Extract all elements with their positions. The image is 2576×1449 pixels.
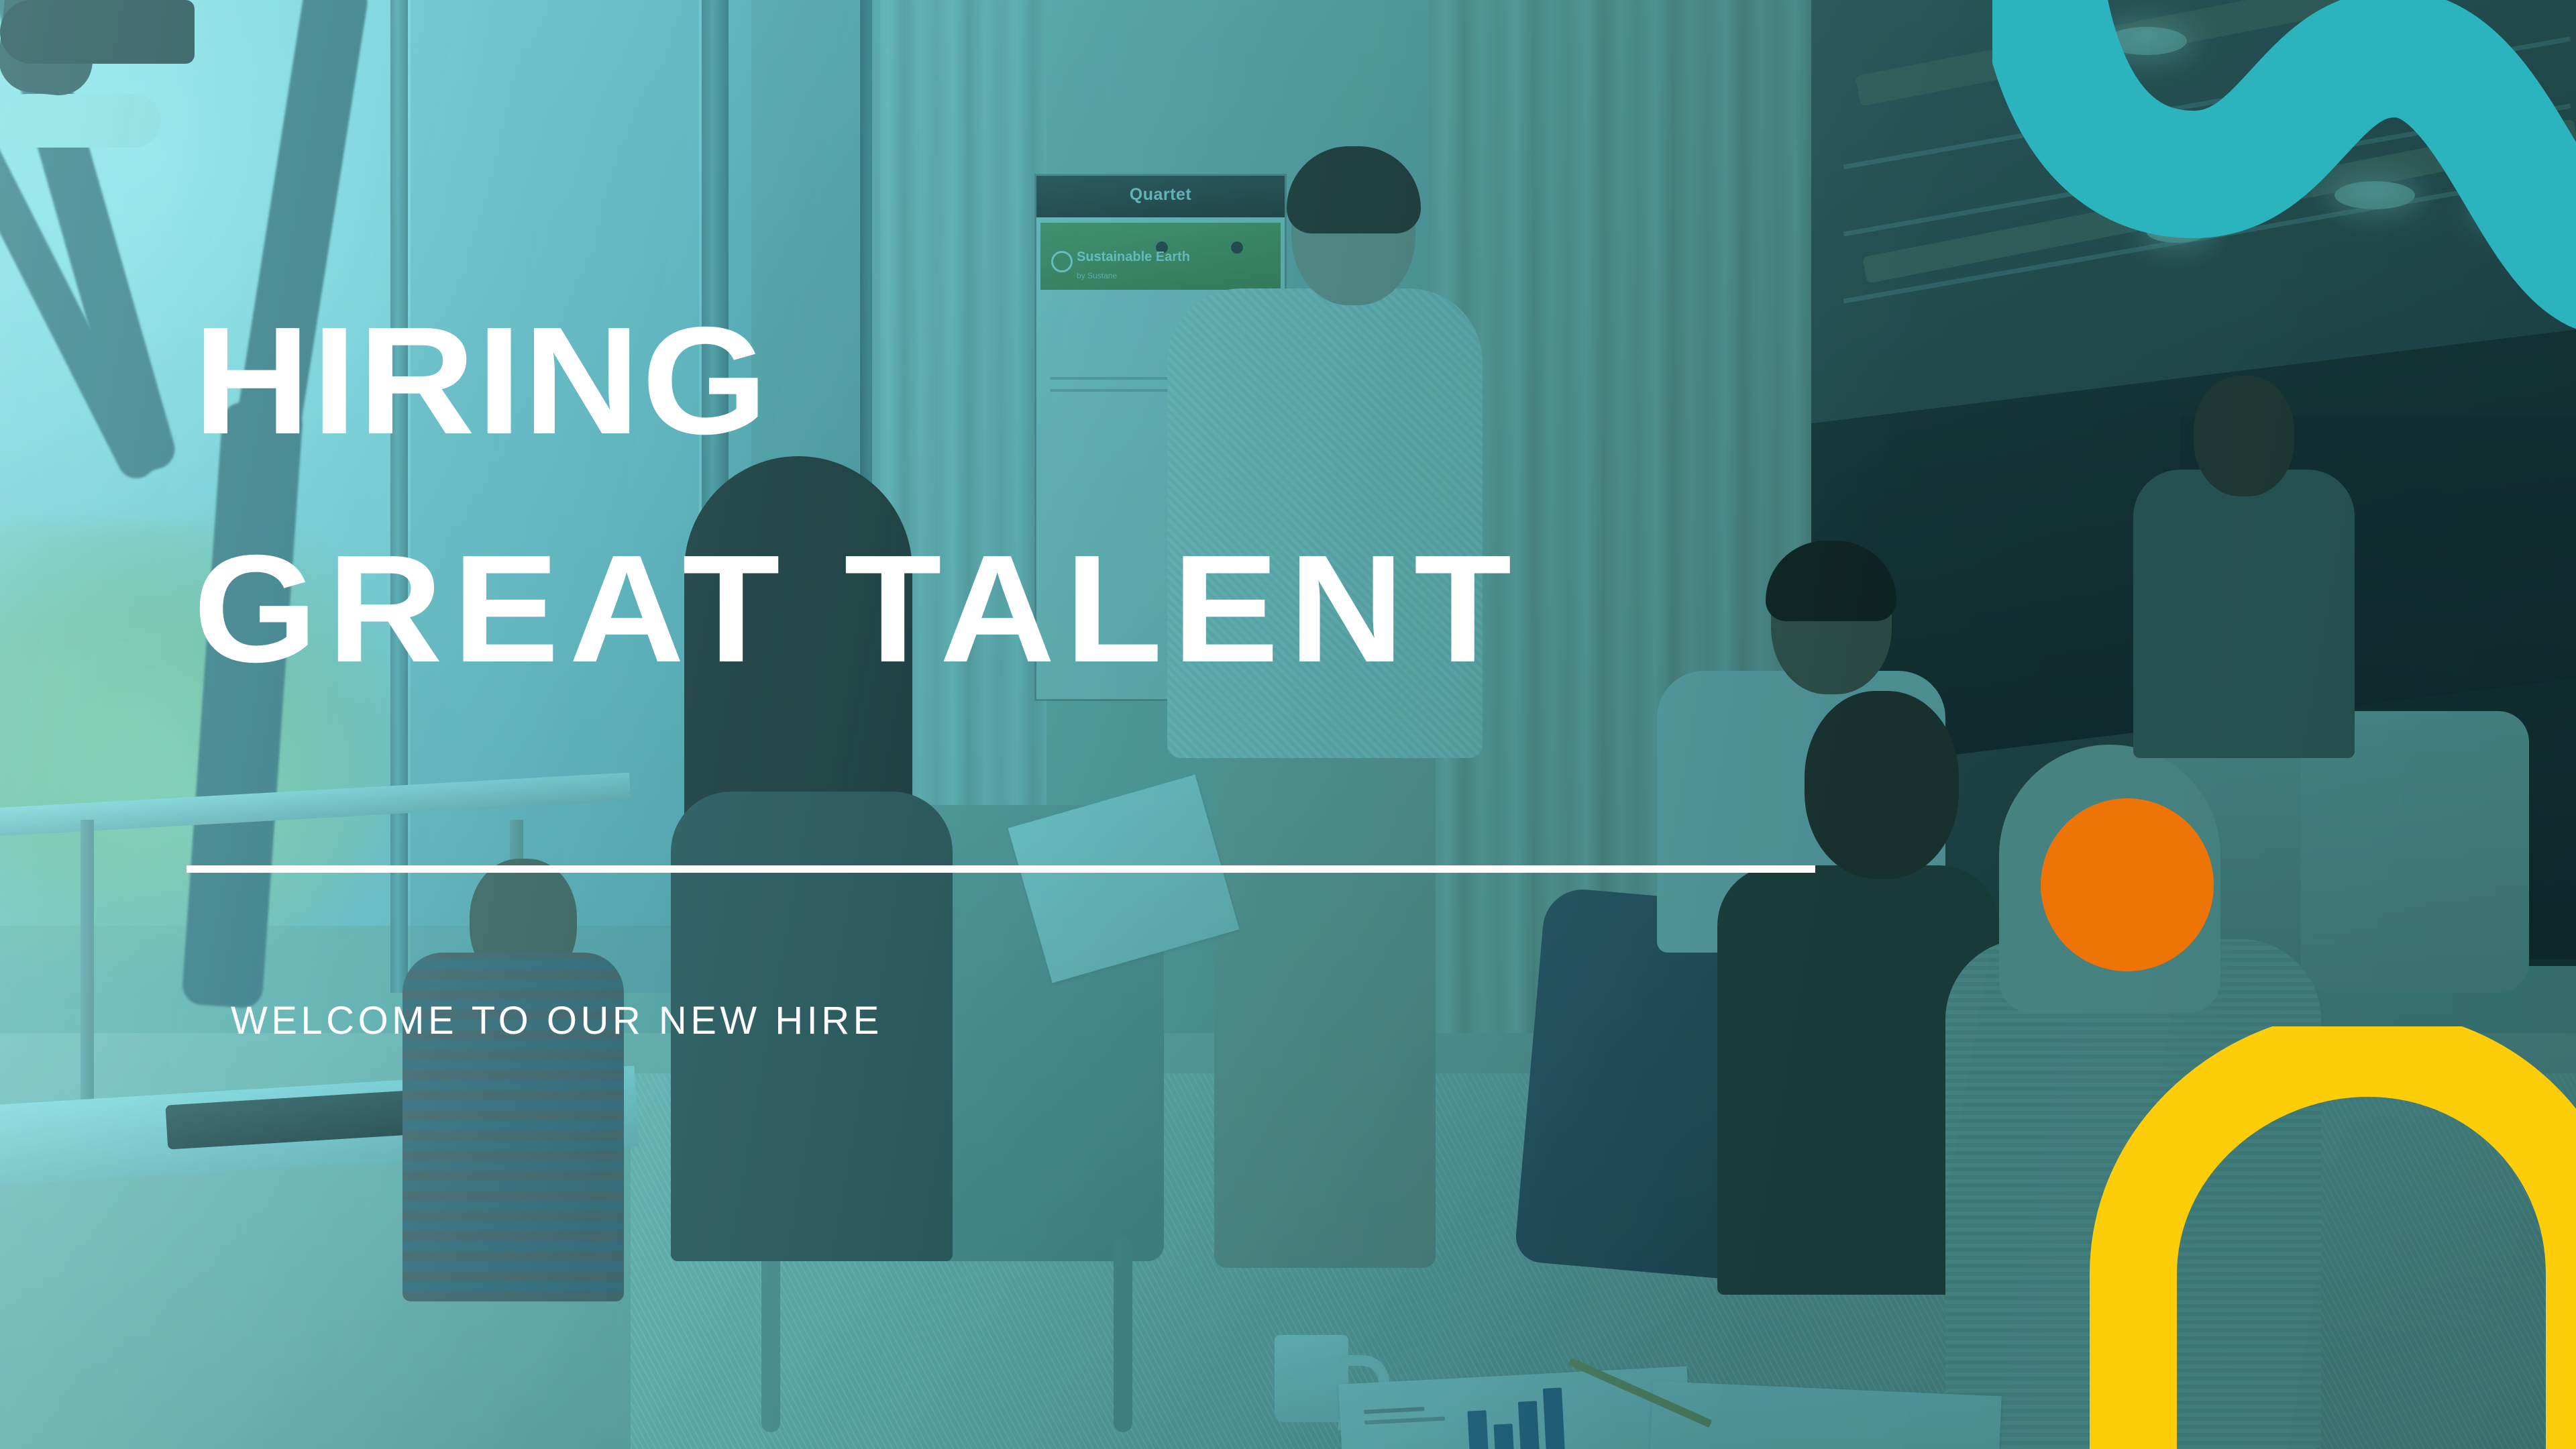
poster-canvas: Quartet Sustainable Earth by Sustane [0, 0, 2576, 1449]
text-content-layer: HIRING GREAT TALENT WELCOME TO OUR NEW H… [0, 0, 2576, 1449]
headline-line-2: GREAT TALENT [193, 543, 1521, 675]
horizontal-divider-rule [186, 865, 1815, 873]
headline-line-1: HIRING [193, 315, 769, 447]
subtitle-text: WELCOME TO OUR NEW HIRE [231, 998, 883, 1043]
